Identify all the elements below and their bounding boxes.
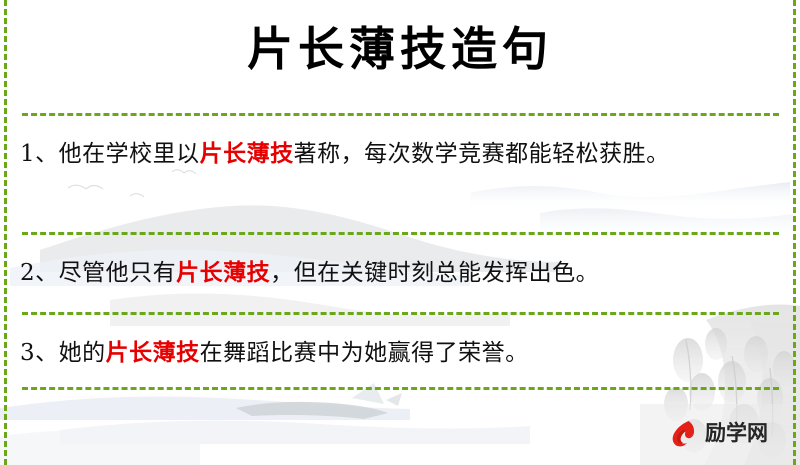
page-root: 片长薄技造句 1、他在学校里以片长薄技著称，每次数学竞赛都能轻松获胜。 2、尽管… — [0, 0, 800, 465]
example-sentence-1: 1、他在学校里以片长薄技著称，每次数学竞赛都能轻松获胜。 — [20, 134, 775, 174]
sentence-text-1-pre: 他在学校里以 — [59, 141, 200, 167]
far-shore — [0, 396, 410, 420]
separator-dashed-3 — [22, 312, 779, 315]
keyword-highlight-1: 片长薄技 — [200, 140, 294, 167]
cloud-band-lower — [110, 293, 510, 326]
water-band — [60, 421, 530, 444]
keyword-highlight-2: 片长薄技 — [176, 259, 270, 286]
example-sentence-3: 3、她的片长薄技在舞蹈比赛中为她赢得了荣誉。 — [20, 333, 775, 373]
site-watermark[interactable]: 励学网 — [668, 416, 768, 450]
keyword-highlight-3: 片长薄技 — [106, 339, 200, 366]
sentence-index-2: 2、 — [20, 260, 59, 286]
sentence-text-1-post: 著称，每次数学竞赛都能轻松获胜。 — [294, 141, 670, 167]
separator-dashed-1 — [22, 113, 779, 116]
example-sentence-2: 2、尽管他只有片长薄技，但在关键时刻总能发挥出色。 — [20, 253, 775, 293]
mist-band-upper-2 — [540, 208, 793, 232]
separator-dashed-4 — [22, 387, 779, 390]
sentence-text-3-pre: 她的 — [59, 340, 106, 366]
watermark-brand-text: 励学网 — [705, 417, 768, 449]
separator-dashed-2 — [22, 232, 779, 235]
sentence-index-1: 1、 — [20, 141, 59, 167]
flame-swoosh-icon — [668, 417, 700, 449]
sentence-text-3-post: 在舞蹈比赛中为她赢得了荣誉。 — [200, 340, 529, 366]
sentence-text-2-pre: 尽管他只有 — [59, 260, 177, 286]
boat-sketch — [236, 383, 402, 419]
sentence-index-3: 3、 — [20, 340, 59, 366]
page-title: 片长薄技造句 — [0, 18, 800, 80]
bottom-left-wash — [0, 430, 200, 465]
sentence-text-2-post: ，但在关键时刻总能发挥出色。 — [270, 260, 599, 286]
mist-band-upper — [470, 182, 790, 205]
